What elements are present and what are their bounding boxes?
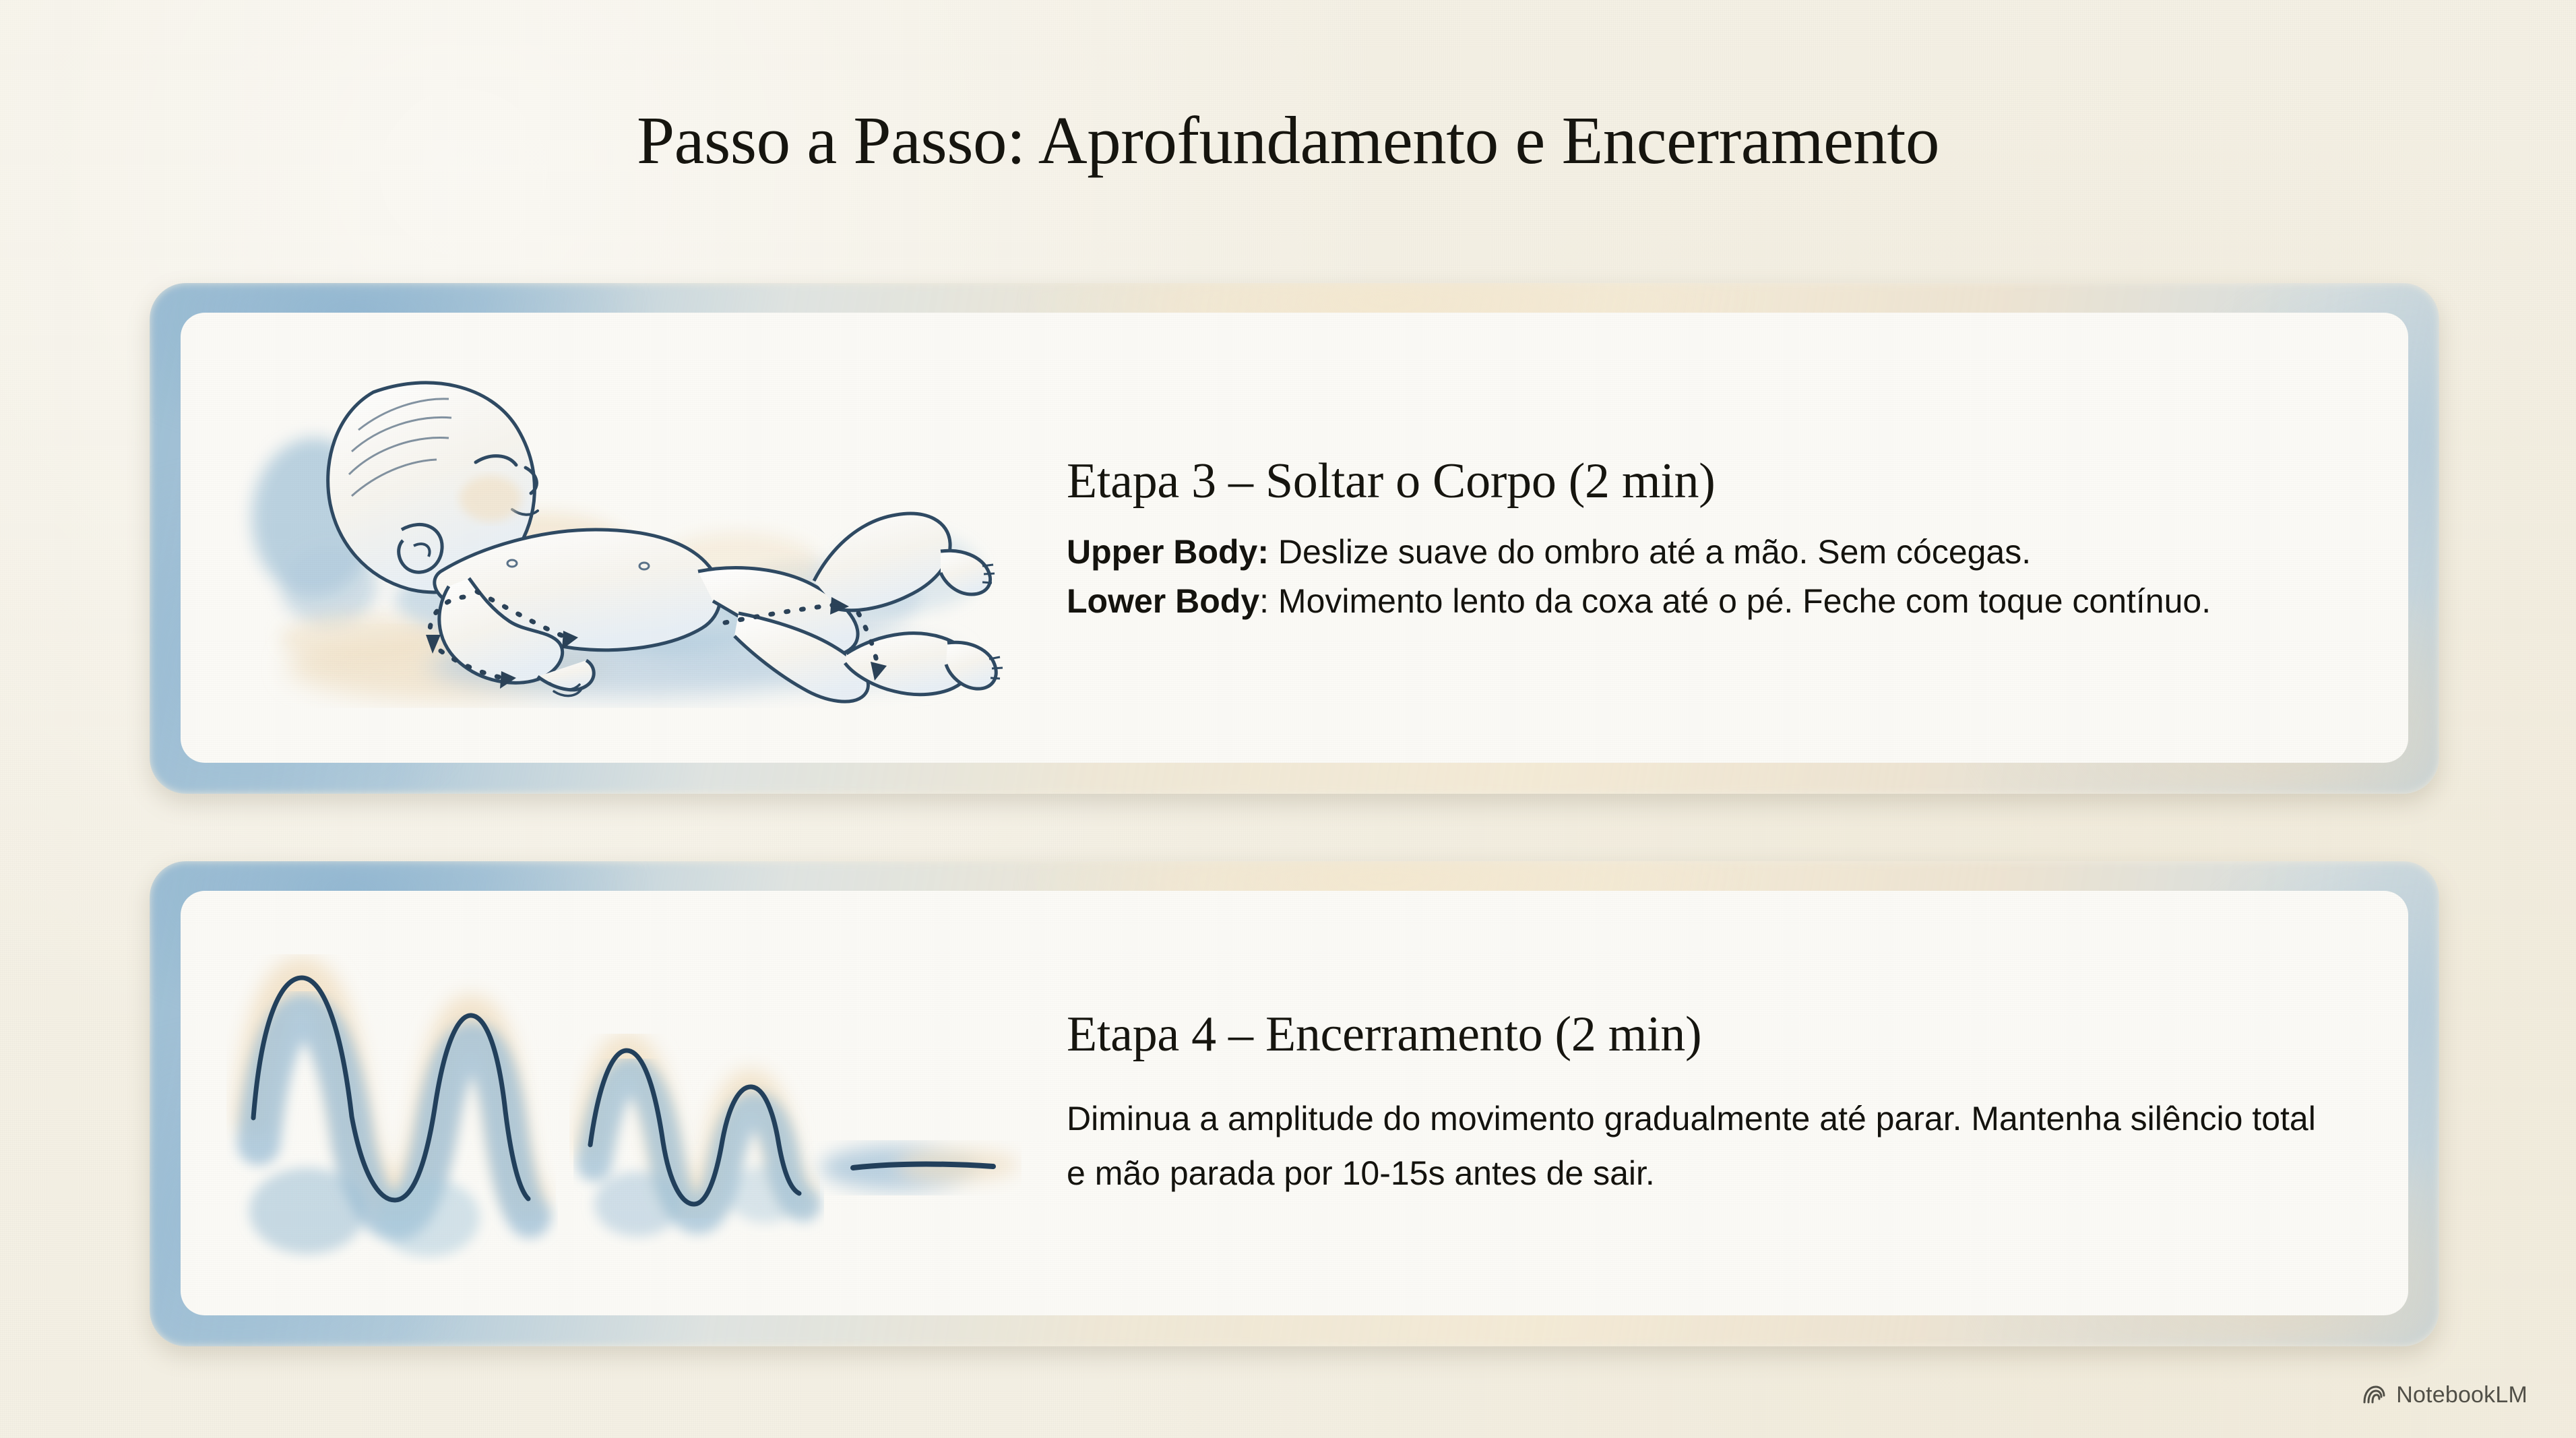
step-body: Diminua a amplitude do movimento gradual… <box>1067 1092 2327 1201</box>
page-title: Passo a Passo: Aprofundamento e Encerram… <box>0 101 2576 179</box>
baby-illustration-svg <box>226 349 1022 726</box>
wave-illustration-svg <box>226 941 1022 1265</box>
step-heading: Etapa 3 – Soltar o Corpo (2 min) <box>1067 453 2327 510</box>
body-line-rest: : Movimento lento da coxa até o pé. Fech… <box>1259 582 2211 620</box>
notebooklm-spiral-icon <box>2362 1383 2387 1407</box>
step-card-etapa-4: Etapa 4 – Encerramento (2 min) Diminua a… <box>150 861 2439 1346</box>
body-line: Lower Body: Movimento lento da coxa até … <box>1067 580 2327 623</box>
wave-group-1-blue-wash <box>249 1015 530 1257</box>
decaying-wave-amplitude-illustration <box>181 891 1067 1315</box>
step-card-etapa-3: Etapa 3 – Soltar o Corpo (2 min) Upper B… <box>150 283 2439 794</box>
card-inner-panel: Etapa 3 – Soltar o Corpo (2 min) Upper B… <box>181 313 2408 763</box>
wave-group-2-blue-wash <box>594 1075 803 1237</box>
card-inner-panel: Etapa 4 – Encerramento (2 min) Diminua a… <box>181 891 2408 1315</box>
step-heading: Etapa 4 – Encerramento (2 min) <box>1067 1006 2327 1063</box>
body-line-emphasis: Lower Body <box>1067 582 1259 620</box>
step-body: Upper Body: Deslize suave do ombro até a… <box>1067 530 2327 623</box>
baby-cheek-blush <box>460 476 522 522</box>
notebooklm-watermark: NotebookLM <box>2362 1382 2527 1408</box>
card-text-block: Etapa 3 – Soltar o Corpo (2 min) Upper B… <box>1067 453 2408 623</box>
body-line: Diminua a amplitude do movimento gradual… <box>1067 1092 2327 1201</box>
body-line-rest: Deslize suave do ombro até a mão. Sem có… <box>1269 533 2031 571</box>
notebooklm-label: NotebookLM <box>2396 1382 2527 1408</box>
body-line-emphasis: Upper Body: <box>1067 533 1269 571</box>
card-text-block: Etapa 4 – Encerramento (2 min) Diminua a… <box>1067 1006 2408 1201</box>
body-line: Upper Body: Deslize suave do ombro até a… <box>1067 530 2327 574</box>
baby-lying-massage-strokes-illustration <box>181 313 1067 763</box>
